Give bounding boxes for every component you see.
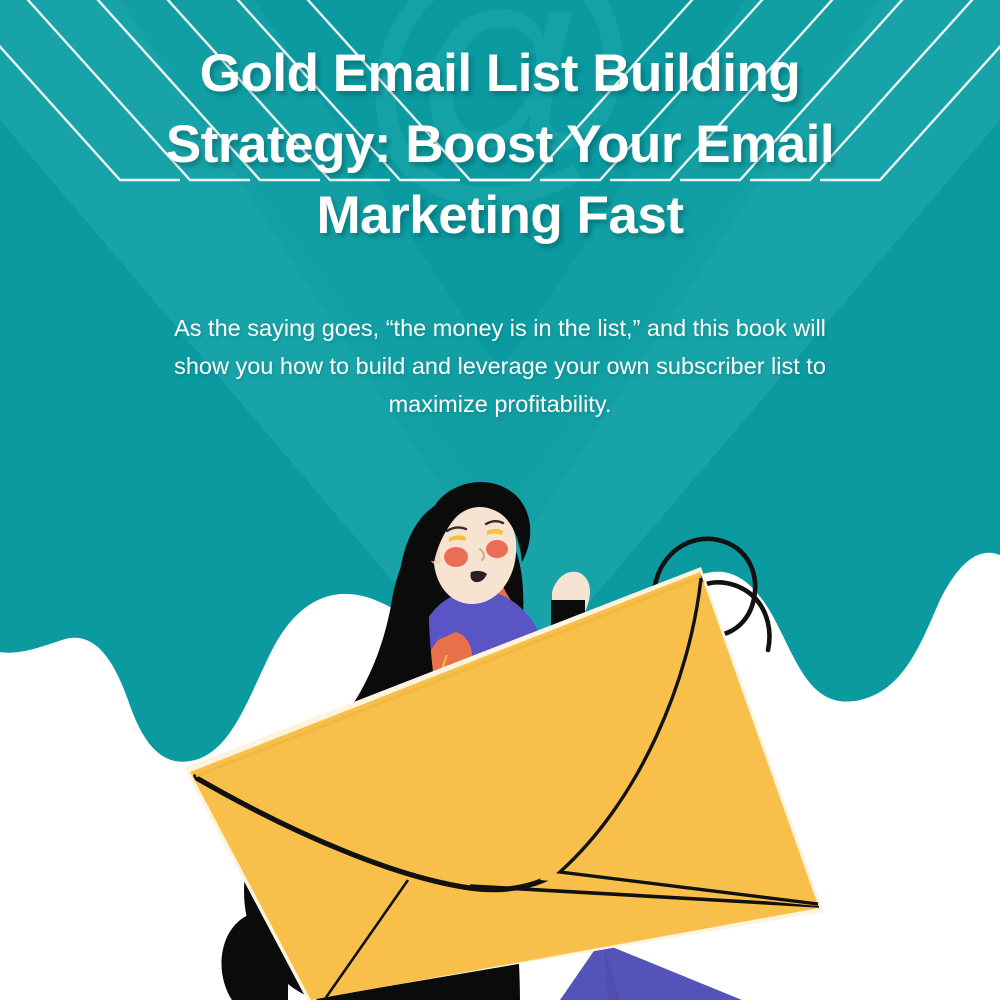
blush-right [486,540,508,558]
illustration-layer [0,0,1000,1000]
book-cover-poster: @ [0,0,1000,1000]
blush-left [444,547,468,567]
